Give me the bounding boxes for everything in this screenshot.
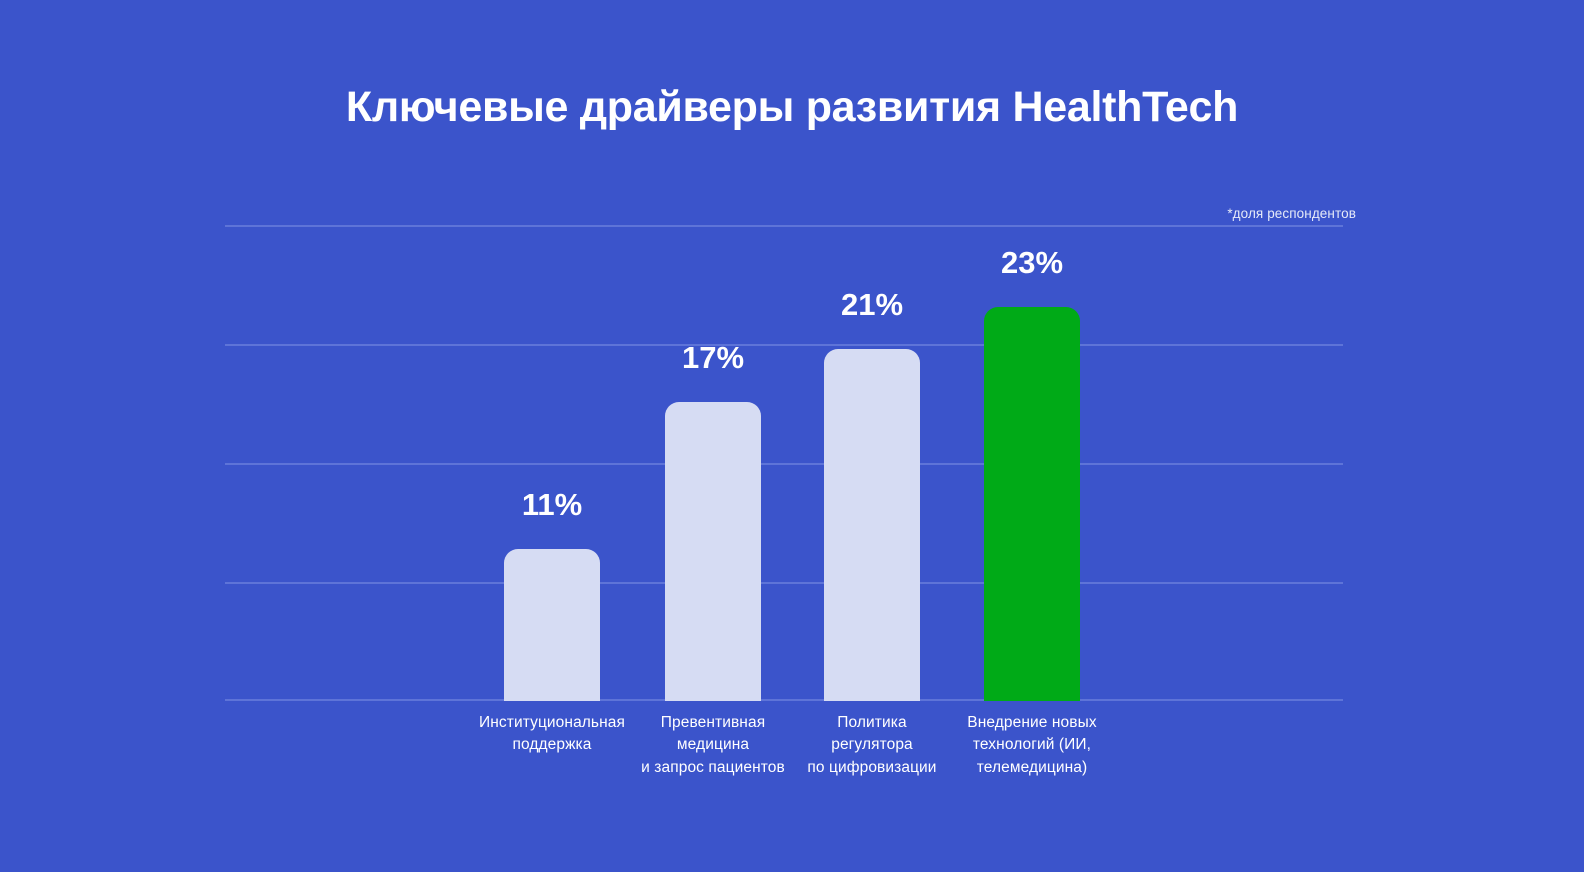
bar-1[interactable] [504,549,600,701]
bar-value-2: 17% [631,340,795,376]
category-label-4-line-1: Внедрение новых [927,712,1137,734]
page-title: Ключевые драйверы развития HealthTech [0,84,1584,131]
chart-footnote: *доля респондентов [1227,206,1356,221]
slide-canvas: Ключевые драйверы развития HealthTech *д… [0,0,1584,872]
category-label-4-line-3: телемедицина) [927,757,1137,779]
bar-value-4: 23% [950,245,1114,281]
bar-2[interactable] [665,402,761,701]
bar-value-3: 21% [790,287,954,323]
chart-plot-area: 11% 17% 21% 23% [225,225,1343,701]
category-axis-labels: Институциональная поддержка Превентивная… [225,712,1343,802]
bar-series: 11% 17% 21% 23% [225,226,1343,701]
bar-3[interactable] [824,349,920,701]
category-label-4: Внедрение новых технологий (ИИ, телемеди… [927,712,1137,779]
bar-value-1: 11% [470,487,634,523]
category-label-4-line-2: технологий (ИИ, [927,734,1137,756]
bar-4-highlight[interactable] [984,307,1080,701]
